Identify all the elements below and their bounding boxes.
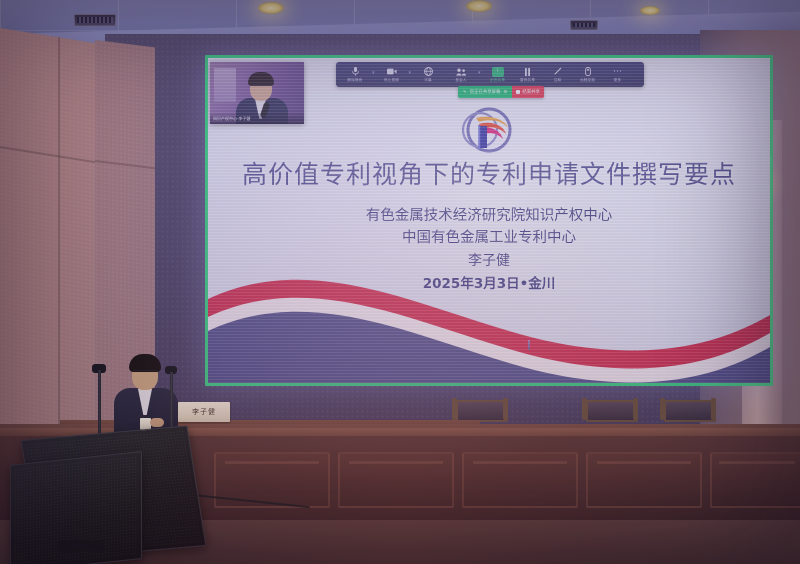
sharing-status-text: 您正在共享屏幕 bbox=[470, 89, 501, 95]
toolbar-label-captions: 字幕 bbox=[424, 78, 432, 83]
name-placard: 李子健 bbox=[178, 402, 230, 422]
toolbar-label-pause-share: 暂停共享 bbox=[520, 78, 535, 83]
video-participant-name: 知识产权中心·李子健 bbox=[210, 113, 304, 124]
left-acoustic-wall bbox=[0, 28, 108, 465]
chair-back bbox=[586, 400, 638, 422]
video-window-backdrop bbox=[214, 68, 236, 102]
participants-icon bbox=[456, 67, 467, 77]
slide-date-location: 2025年3月3日•金川 bbox=[208, 272, 770, 292]
podium-panel bbox=[462, 452, 578, 508]
toolbar-label-annotate: 注释 bbox=[554, 78, 562, 83]
camera-icon bbox=[387, 67, 397, 77]
presenter-hand bbox=[150, 418, 164, 427]
toolbar-label-remote-control: 远程控制 bbox=[580, 78, 595, 83]
toolbar-label-share-screen: 正在共享 bbox=[490, 78, 505, 83]
meeting-toolbar[interactable]: 解除静音 ▾ 停止视频 ▾ 字幕 bbox=[336, 62, 644, 87]
pause-icon bbox=[524, 67, 531, 77]
stop-sharing-button[interactable]: 结束共享 bbox=[512, 86, 544, 98]
chair-back bbox=[664, 400, 716, 422]
chair-arm bbox=[711, 398, 716, 420]
toolbar-button-participants[interactable]: 参会人 bbox=[446, 67, 476, 83]
slide-subtitle-organization-1: 有色金属技术经济研究院知识产权中心 bbox=[208, 204, 770, 225]
toolbar-button-microphone[interactable]: 解除静音 bbox=[340, 67, 370, 83]
chair bbox=[660, 396, 716, 422]
screen-share-icon: ✎ bbox=[463, 89, 467, 95]
organization-logo-icon bbox=[446, 104, 532, 156]
led-presentation-screen[interactable]: 高价值专利视角下的专利申请文件撰写要点 有色金属技术经济研究院知识产权中心 中国… bbox=[208, 58, 770, 383]
wall-texture bbox=[0, 28, 108, 465]
chair-back bbox=[456, 400, 508, 422]
glasses-icon bbox=[133, 370, 157, 376]
toolbar-button-annotate[interactable]: 注释 bbox=[543, 67, 573, 83]
pencil-icon bbox=[553, 67, 562, 77]
speaker-video-thumbnail[interactable]: 知识产权中心·李子健 bbox=[210, 62, 304, 124]
slide-subtitle-organization-2: 中国有色金属工业专利中心 bbox=[208, 226, 770, 247]
sharing-status-pill: ✎ 您正在共享屏幕 ⚙ bbox=[458, 86, 512, 98]
monitor-stand bbox=[58, 540, 104, 552]
toolbar-button-share-screen[interactable]: ↑ 正在共享 bbox=[483, 67, 513, 83]
toolbar-button-camera[interactable]: 停止视频 bbox=[377, 67, 407, 83]
toolbar-button-captions[interactable]: 字幕 bbox=[413, 67, 443, 83]
toolbar-button-more[interactable]: ⋯ 更多 bbox=[603, 67, 633, 83]
podium-panel bbox=[338, 452, 454, 508]
lecture-hall-scene: 高价值专利视角下的专利申请文件撰写要点 有色金属技术经济研究院知识产权中心 中国… bbox=[0, 0, 800, 564]
name-placard-text: 李子健 bbox=[192, 407, 216, 417]
stop-icon bbox=[516, 90, 520, 94]
laser-pointer-icon bbox=[528, 340, 530, 350]
ceiling-vent-icon bbox=[74, 14, 116, 26]
settings-gear-icon[interactable]: ⚙ bbox=[503, 89, 507, 95]
more-icon: ⋯ bbox=[613, 67, 622, 77]
screen-share-status-bar[interactable]: ✎ 您正在共享屏幕 ⚙ 结束共享 bbox=[458, 86, 544, 98]
toolbar-label-participants: 参会人 bbox=[455, 78, 466, 83]
glasses-icon bbox=[251, 84, 271, 90]
chair bbox=[582, 396, 638, 422]
downlight-icon bbox=[466, 0, 492, 12]
screen-surface: 高价值专利视角下的专利申请文件撰写要点 有色金属技术经济研究院知识产权中心 中国… bbox=[208, 58, 770, 383]
chair-arm bbox=[503, 398, 508, 420]
chair-arm bbox=[633, 398, 638, 420]
slide-title: 高价值专利视角下的专利申请文件撰写要点 bbox=[208, 160, 770, 190]
globe-icon bbox=[424, 67, 433, 77]
toolbar-label-more: 更多 bbox=[614, 78, 622, 83]
toolbar-label-microphone: 解除静音 bbox=[347, 78, 362, 83]
downlight-icon bbox=[640, 6, 660, 15]
toolbar-label-camera: 停止视频 bbox=[384, 78, 399, 83]
stop-sharing-label: 结束共享 bbox=[522, 89, 540, 95]
chair-arm bbox=[660, 398, 665, 420]
chair-arm bbox=[582, 398, 587, 420]
remote-control-icon bbox=[584, 67, 592, 77]
toolbar-button-pause-share[interactable]: 暂停共享 bbox=[513, 67, 543, 83]
chair-arm bbox=[452, 398, 457, 420]
ceiling-vent-icon bbox=[570, 20, 598, 30]
downlight-icon bbox=[258, 2, 284, 14]
microphone-icon bbox=[352, 67, 359, 77]
slide-presenter-name: 李子健 bbox=[208, 250, 770, 270]
podium-panel bbox=[710, 452, 800, 508]
toolbar-button-remote-control[interactable]: 远程控制 bbox=[573, 67, 603, 83]
podium-panel bbox=[586, 452, 702, 508]
chair bbox=[452, 396, 508, 422]
share-screen-icon: ↑ bbox=[492, 67, 504, 77]
panel-seam bbox=[58, 37, 60, 457]
microphone-stand bbox=[170, 372, 173, 428]
